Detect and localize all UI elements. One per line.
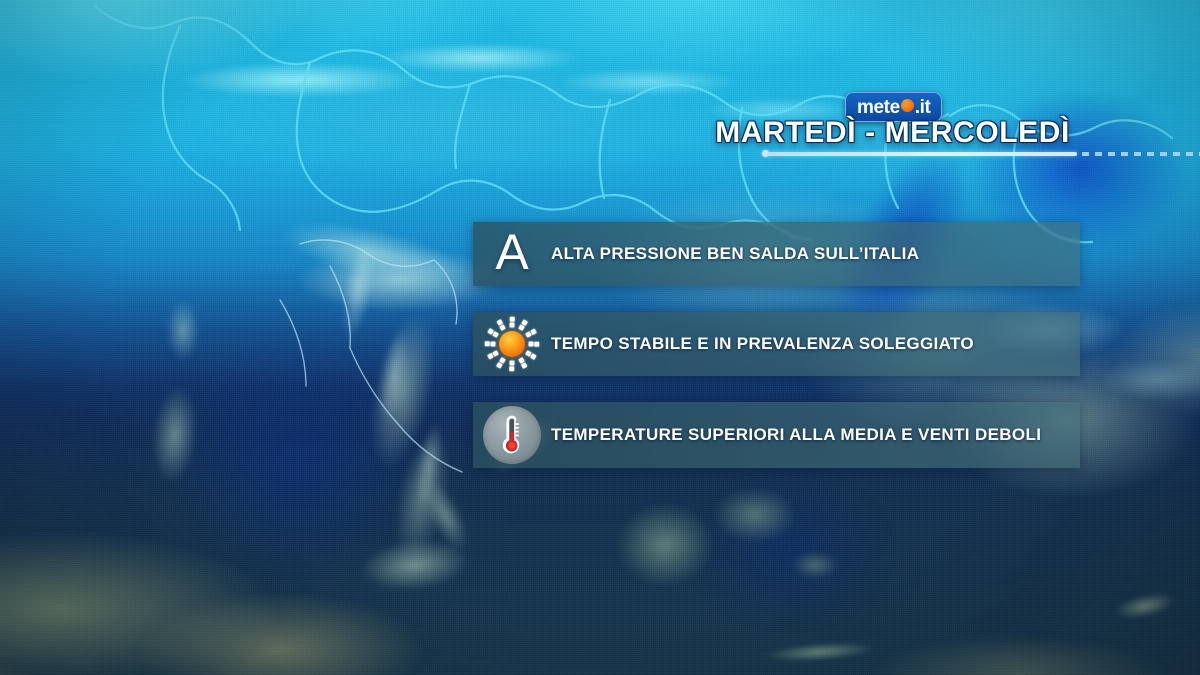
title-underline — [762, 150, 1200, 157]
sun-ray-square — [499, 324, 506, 331]
sun-ray-square — [510, 367, 515, 372]
sun-ray-square — [529, 342, 534, 347]
sun-disc — [499, 331, 525, 357]
logo-text: mete .it — [857, 98, 930, 117]
sun-ray-square — [492, 331, 499, 338]
forecast-highlights: A ALTA PRESSIONE BEN SALDA SULL’ITALIA T… — [473, 222, 1080, 468]
sun-ray-square — [535, 342, 540, 347]
highlight-row-sunny[interactable]: TEMPO STABILE E IN PREVALENZA SOLEGGIATO — [473, 312, 1080, 376]
highlight-label-sunny: TEMPO STABILE E IN PREVALENZA SOLEGGIATO — [551, 334, 974, 354]
weather-map-screen: mete .it MARTEDÌ - MERCOLEDÌ A ALTA PRES… — [0, 0, 1200, 675]
high-pressure-icon-wrap: A — [473, 222, 551, 286]
sun-ray-square — [510, 323, 515, 328]
highlight-row-temperature[interactable]: TEMPERATURE SUPERIORI ALLA MEDIA E VENTI… — [473, 402, 1080, 468]
sun-ray-square — [521, 363, 527, 369]
thermometer-glyph — [499, 414, 525, 456]
sun-ray-square — [491, 342, 496, 347]
sun-ray-square — [485, 342, 490, 347]
highlight-row-pressure[interactable]: A ALTA PRESSIONE BEN SALDA SULL’ITALIA — [473, 222, 1080, 286]
sun-ray-square — [510, 361, 515, 366]
sun-ray-square — [531, 328, 537, 334]
sun-icon — [483, 315, 541, 373]
logo-text-before: mete — [857, 98, 900, 117]
highlight-label-temperature: TEMPERATURE SUPERIORI ALLA MEDIA E VENTI… — [551, 425, 1041, 445]
sun-ray-square — [510, 317, 515, 322]
logo-orange-dot-icon — [901, 99, 914, 112]
underline-dashes — [1082, 152, 1200, 156]
forecast-title: MARTEDÌ - MERCOLEDÌ — [0, 116, 1070, 150]
sun-ray-square — [531, 353, 537, 359]
header: mete .it MARTEDÌ - MERCOLEDÌ — [0, 0, 1200, 170]
letter-a-high-pressure-icon: A — [495, 227, 528, 277]
sun-ray-square — [496, 363, 502, 369]
thermometer-icon-wrap — [473, 402, 551, 468]
sun-icon-wrap — [473, 312, 551, 376]
logo-text-after: .it — [915, 98, 931, 117]
highlight-label-pressure: ALTA PRESSIONE BEN SALDA SULL’ITALIA — [551, 244, 919, 264]
underline-bar — [767, 152, 1077, 156]
thermometer-icon — [483, 406, 541, 464]
